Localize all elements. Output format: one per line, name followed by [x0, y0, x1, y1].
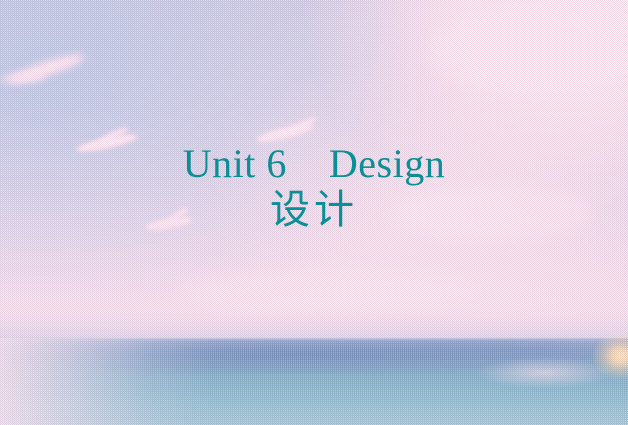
slide-title-chinese: 设计: [270, 189, 358, 231]
slide-canvas: Unit 6 Design 设计: [0, 0, 628, 425]
title-block: Unit 6 Design 设计: [0, 0, 628, 425]
slide-title-english: Unit 6 Design: [183, 143, 445, 185]
